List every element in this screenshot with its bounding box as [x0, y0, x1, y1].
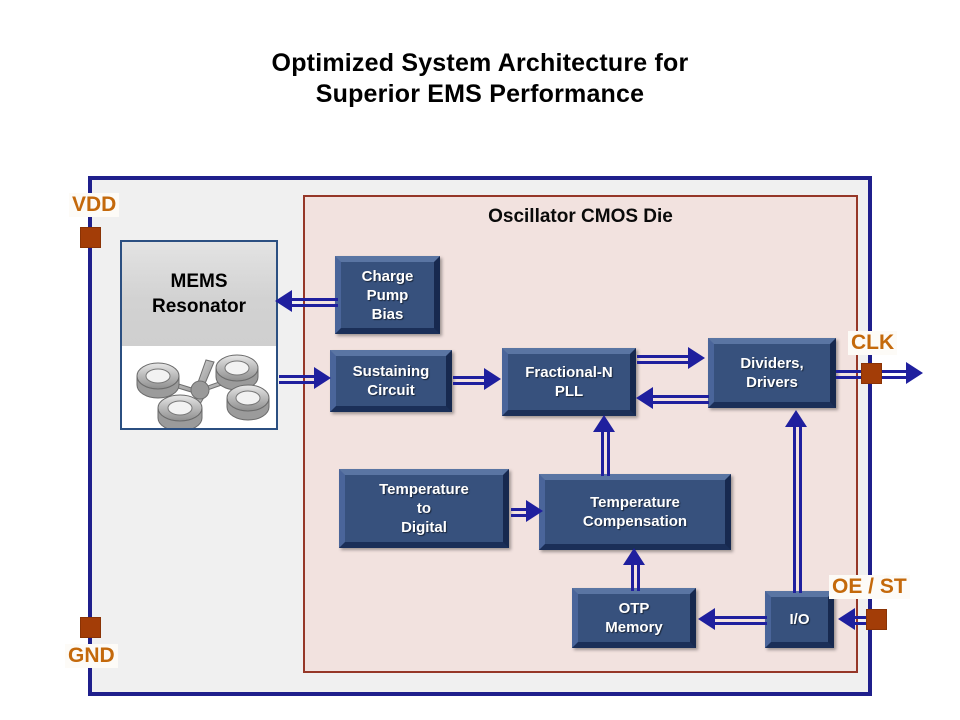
mems-resonator-illustration [122, 346, 276, 428]
cmos-die-title: Oscillator CMOS Die [303, 206, 858, 228]
title-line-2: Superior EMS Performance [0, 79, 960, 110]
pad-gnd[interactable] [80, 617, 101, 638]
pin-label-gnd: GND [65, 644, 118, 668]
block-temperature-to-digital-label: Temperature to Digital [345, 480, 503, 537]
page-title: Optimized System Architecture for Superi… [0, 48, 960, 110]
block-dividers-drivers[interactable]: Dividers, Drivers [708, 338, 836, 408]
block-fractional-n-pll[interactable]: Fractional-N PLL [502, 348, 636, 416]
block-sustaining-circuit-label: Sustaining Circuit [336, 362, 446, 400]
block-io-label: I/O [771, 610, 828, 629]
block-io[interactable]: I/O [765, 591, 834, 648]
block-temperature-compensation-label: Temperature Compensation [545, 493, 725, 531]
pad-oest[interactable] [866, 609, 887, 630]
pin-label-clk: CLK [848, 331, 897, 355]
block-otp-memory[interactable]: OTP Memory [572, 588, 696, 648]
block-temperature-to-digital[interactable]: Temperature to Digital [339, 469, 509, 548]
block-temperature-compensation[interactable]: Temperature Compensation [539, 474, 731, 550]
block-otp-memory-label: OTP Memory [578, 599, 690, 637]
block-charge-pump-bias[interactable]: Charge Pump Bias [335, 256, 440, 334]
pin-label-vdd: VDD [69, 193, 119, 217]
title-line-1: Optimized System Architecture for [0, 48, 960, 79]
block-fractional-n-pll-label: Fractional-N PLL [508, 363, 630, 401]
pin-label-oest: OE / ST [829, 575, 910, 599]
mems-resonator-label: MEMS Resonator [122, 269, 276, 319]
pad-clk[interactable] [861, 363, 882, 384]
block-dividers-drivers-label: Dividers, Drivers [714, 354, 830, 392]
block-charge-pump-bias-label: Charge Pump Bias [341, 267, 434, 324]
block-sustaining-circuit[interactable]: Sustaining Circuit [330, 350, 452, 412]
diagram-canvas: Optimized System Architecture for Superi… [0, 0, 960, 720]
pad-vdd[interactable] [80, 227, 101, 248]
mems-resonator-header: MEMS Resonator [122, 242, 276, 346]
mems-resonator-block: MEMS Resonator [120, 240, 278, 430]
